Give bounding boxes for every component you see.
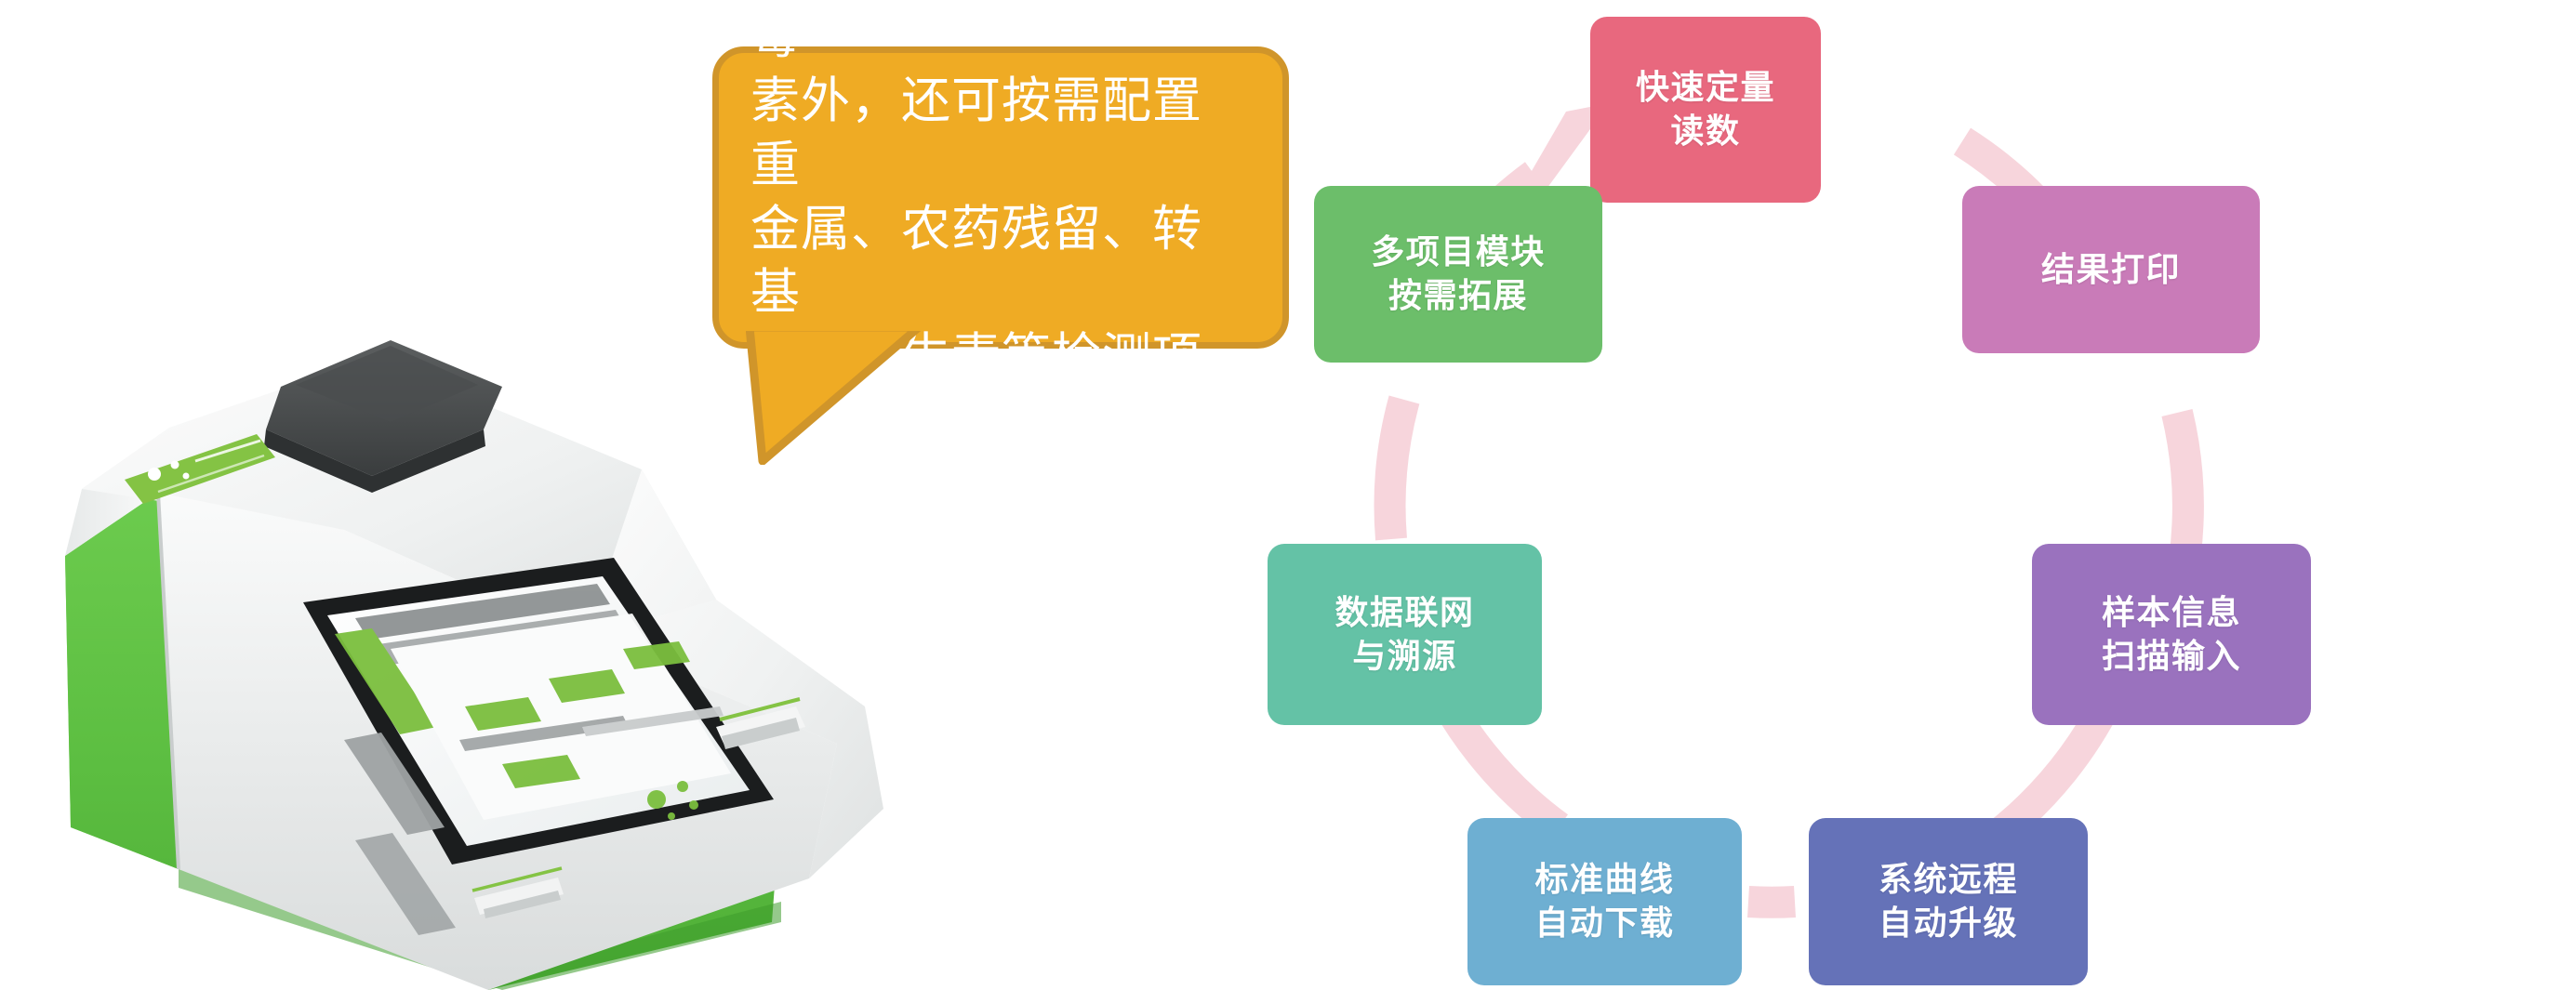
feature-callout: 模块化设计，除真菌毒 素外，还可按需配置重 金属、农药残留、转基 因、维生素等检…: [712, 46, 1289, 349]
segment-data-to-module: [1390, 400, 1404, 539]
workflow-cycle-diagram: 快速定量 读数 结果打印 样本信息 扫描输入 系统远程 自动升级 标准曲线 自动…: [1228, 0, 2576, 990]
cycle-node-standard-curve-auto-download[interactable]: 标准曲线 自动下载: [1467, 818, 1742, 985]
analyzer-device-illustration: [65, 307, 939, 990]
cycle-node-result-printing[interactable]: 结果打印: [1962, 186, 2260, 353]
callout-bubble: 模块化设计，除真菌毒 素外，还可按需配置重 金属、农药残留、转基 因、维生素等检…: [712, 46, 1289, 349]
cycle-node-rapid-quantitative-reading[interactable]: 快速定量 读数: [1590, 17, 1821, 203]
cycle-node-data-networking-traceability[interactable]: 数据联网 与溯源: [1268, 544, 1542, 725]
cycle-node-remote-auto-upgrade[interactable]: 系统远程 自动升级: [1809, 818, 2088, 985]
cycle-node-sample-info-scan-input[interactable]: 样本信息 扫描输入: [2032, 544, 2311, 725]
cycle-node-multi-item-module-expansion[interactable]: 多项目模块 按需拓展: [1314, 186, 1602, 363]
segment-remote-to-curve: [1748, 902, 1795, 903]
